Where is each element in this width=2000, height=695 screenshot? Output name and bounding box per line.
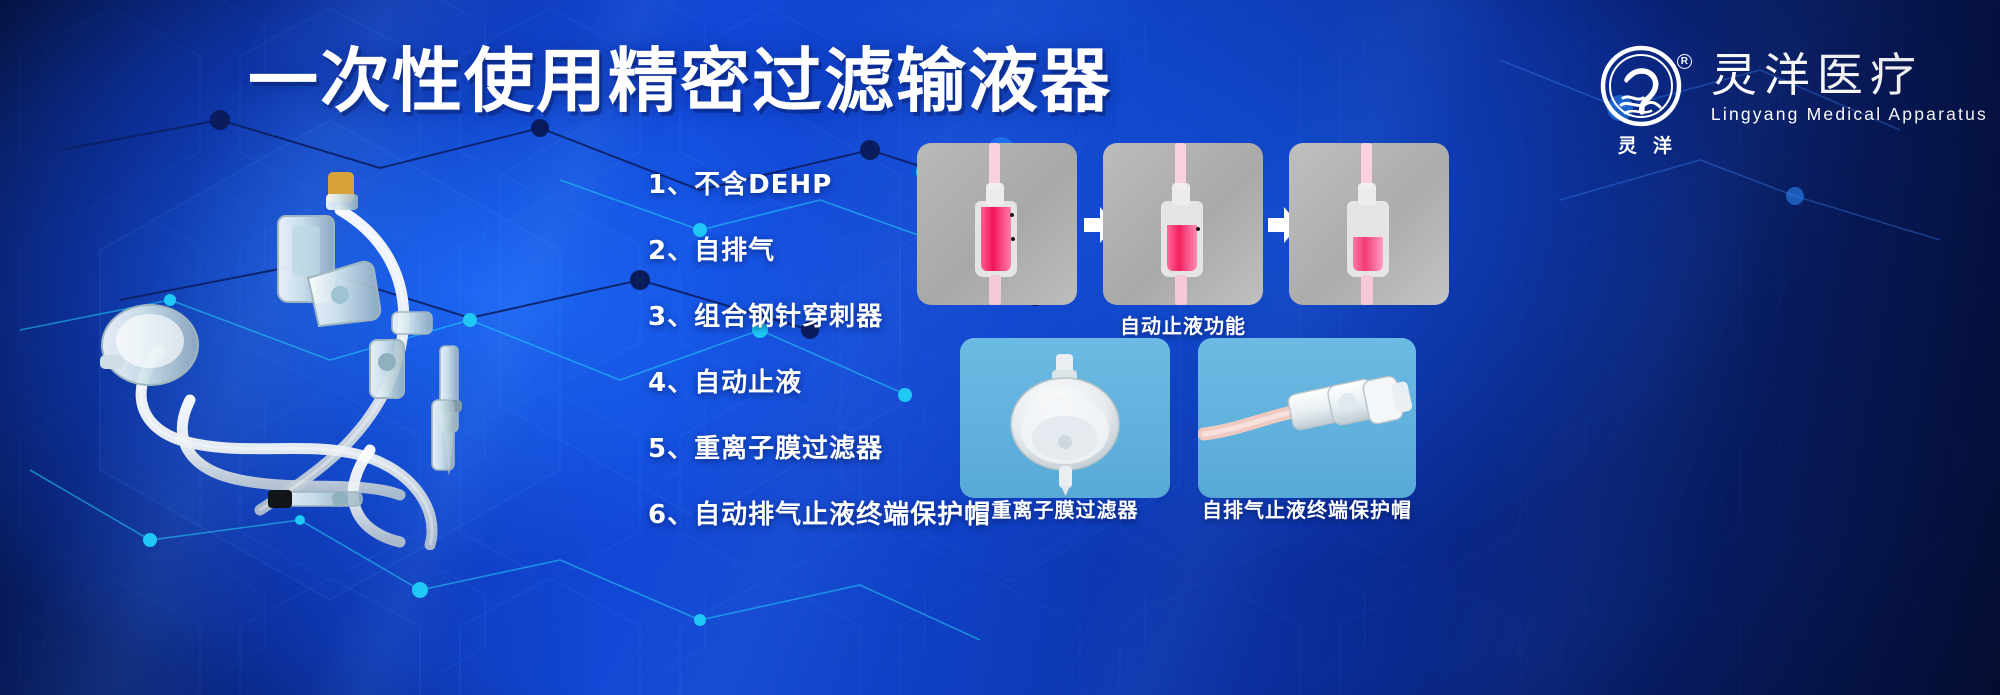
demo-sequence-caption: 自动止液功能 [1103, 310, 1263, 339]
demo-photo-frame-3 [1289, 143, 1449, 305]
company-logo: R 灵洋 灵洋医疗 Lingyang Medical Apparatus [1597, 42, 1988, 138]
detail-photo-filter [960, 338, 1170, 498]
feature-item: 4、自动止液 [648, 370, 978, 396]
product-photo-main [40, 150, 660, 550]
company-name-cn: 灵洋医疗 [1711, 51, 1988, 99]
feature-item: 3、组合钢针穿刺器 [648, 304, 978, 330]
company-name-en: Lingyang Medical Apparatus [1711, 104, 1988, 125]
detail-caption-cap: 自排气止液终端保护帽 [1198, 494, 1416, 523]
lingyang-emblem-icon: R 灵洋 [1597, 42, 1693, 138]
logo-mark-subtitle: 灵洋 [1597, 131, 1693, 158]
demo-photo-frame-2 [1103, 143, 1263, 305]
feature-item: 6、自动排气止液终端保护帽 [648, 502, 978, 528]
demo-photo-frame-1 [917, 143, 1077, 305]
promo-banner: 一次性使用精密过滤输液器 R 灵洋 灵洋医疗 Lingyang Medical … [0, 0, 2000, 695]
detail-photo-cap [1198, 338, 1416, 498]
feature-item: 5、重离子膜过滤器 [648, 436, 978, 462]
registered-trademark-icon: R [1677, 54, 1692, 69]
detail-caption-filter: 重离子膜过滤器 [960, 494, 1170, 523]
banner-title: 一次性使用精密过滤输液器 [248, 46, 1112, 116]
